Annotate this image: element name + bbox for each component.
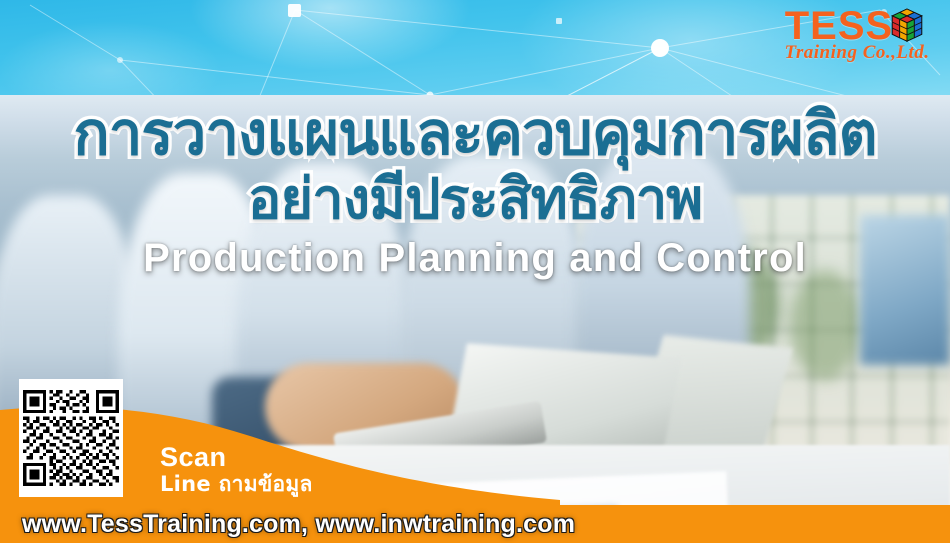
qr-code[interactable] xyxy=(19,379,123,497)
plant-blur xyxy=(790,270,860,380)
scan-instructions: Scan Line ถามข้อมูล xyxy=(160,444,313,495)
logo-wordmark: TESS xyxy=(785,4,893,48)
headline-thai-line-1: การวางแผนและควบคุมการผลิต xyxy=(0,104,950,165)
headline-block: การวางแผนและควบคุมการผลิต อย่างมีประสิทธ… xyxy=(0,104,950,281)
headline-thai-line-2: อย่างมีประสิทธิภาพ xyxy=(0,171,950,228)
scan-label: Scan xyxy=(160,444,313,471)
promo-banner: TESS Trainin xyxy=(0,0,950,543)
company-logo[interactable]: TESS Trainin xyxy=(772,2,942,82)
footer-url-bar: www.TessTraining.com, www.inwtraining.co… xyxy=(0,505,950,543)
scan-line-label: Line ถามข้อมูล xyxy=(160,474,313,495)
headline-english: Production Planning and Control xyxy=(0,236,950,281)
footer-urls[interactable]: www.TessTraining.com, www.inwtraining.co… xyxy=(0,510,575,539)
rubiks-cube-icon xyxy=(884,8,930,56)
qr-code-graphic xyxy=(23,383,119,493)
